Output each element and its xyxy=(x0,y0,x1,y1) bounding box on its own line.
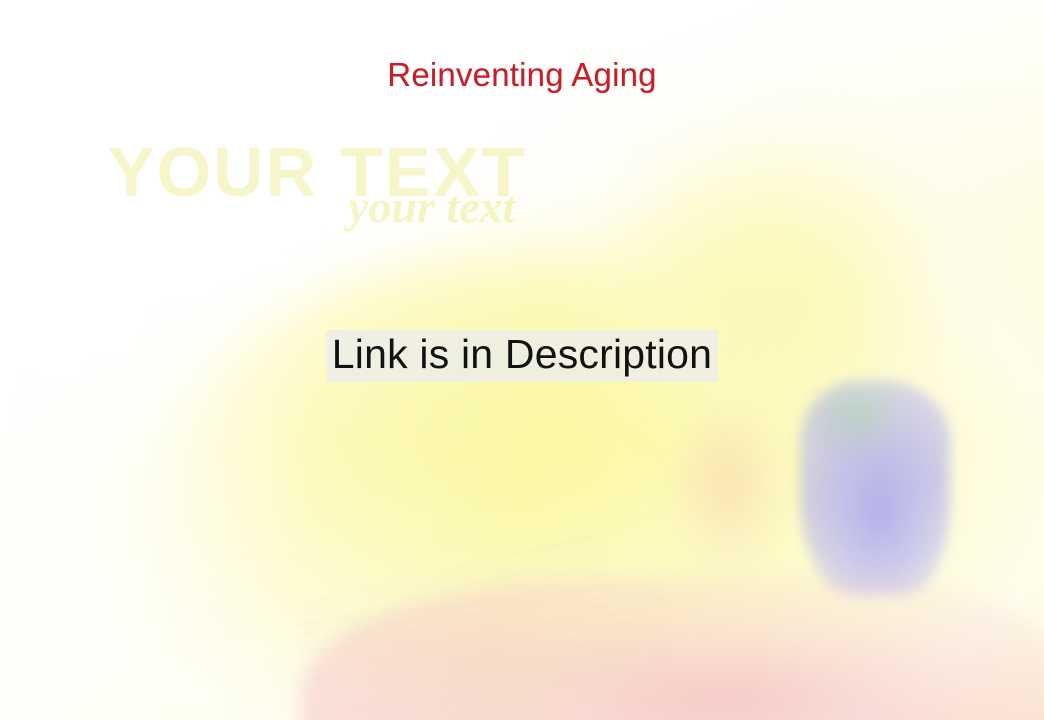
background-green-highlight xyxy=(802,386,894,456)
background-texture-streak xyxy=(296,576,675,716)
background-rose-fabric-inner xyxy=(540,616,960,720)
video-thumbnail-canvas: YOUR TEXT your text Reinventing Aging Li… xyxy=(0,0,1044,720)
background-rose-fabric xyxy=(300,576,1044,720)
background-lavender-figure-lower xyxy=(826,448,932,598)
caption-container: Link is in Description xyxy=(0,330,1044,382)
watermark-script-text: your text xyxy=(348,180,515,233)
page-title: Reinventing Aging xyxy=(0,56,1044,94)
background-lavender-figure xyxy=(800,380,950,595)
background-apricot-arm xyxy=(672,408,788,578)
link-in-description-caption: Link is in Description xyxy=(326,330,718,382)
stock-photo-watermark: YOUR TEXT your text xyxy=(108,132,668,252)
background-yellow-drape xyxy=(600,120,960,440)
background-yellow-cushion xyxy=(180,255,880,685)
watermark-main-text: YOUR TEXT xyxy=(108,132,527,212)
background-texture-streak-upper xyxy=(297,526,613,654)
